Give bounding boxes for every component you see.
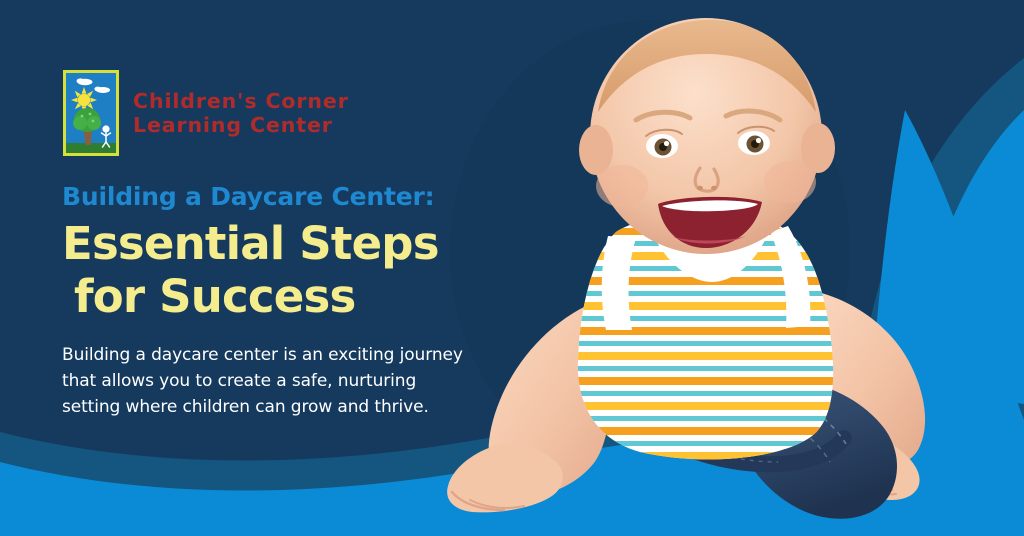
body-line-3: setting where children can grow and thri… <box>62 395 482 421</box>
logo-mark <box>63 70 119 156</box>
headline-line-1: Essential Steps <box>62 217 482 270</box>
logo-name-line-1: Children's Corner <box>133 89 349 113</box>
body-line-1: Building a daycare center is an exciting… <box>62 343 482 369</box>
logo-illustration <box>66 73 116 153</box>
body-line-2: that allows you to create a safe, nurtur… <box>62 369 482 395</box>
hero-headline: Essential Steps for Success <box>62 217 482 323</box>
headline-line-2: for Success <box>62 270 482 323</box>
hero-eyebrow: Building a Daycare Center: <box>62 182 482 211</box>
hero-copy: Building a Daycare Center: Essential Ste… <box>62 182 482 421</box>
promotional-banner: Children's Corner Learning Center Buildi… <box>0 0 1024 536</box>
logo[interactable]: Children's Corner Learning Center <box>63 70 349 156</box>
hero-body: Building a daycare center is an exciting… <box>62 343 482 420</box>
logo-wordmark: Children's Corner Learning Center <box>133 89 349 137</box>
logo-name-line-2: Learning Center <box>133 113 349 137</box>
